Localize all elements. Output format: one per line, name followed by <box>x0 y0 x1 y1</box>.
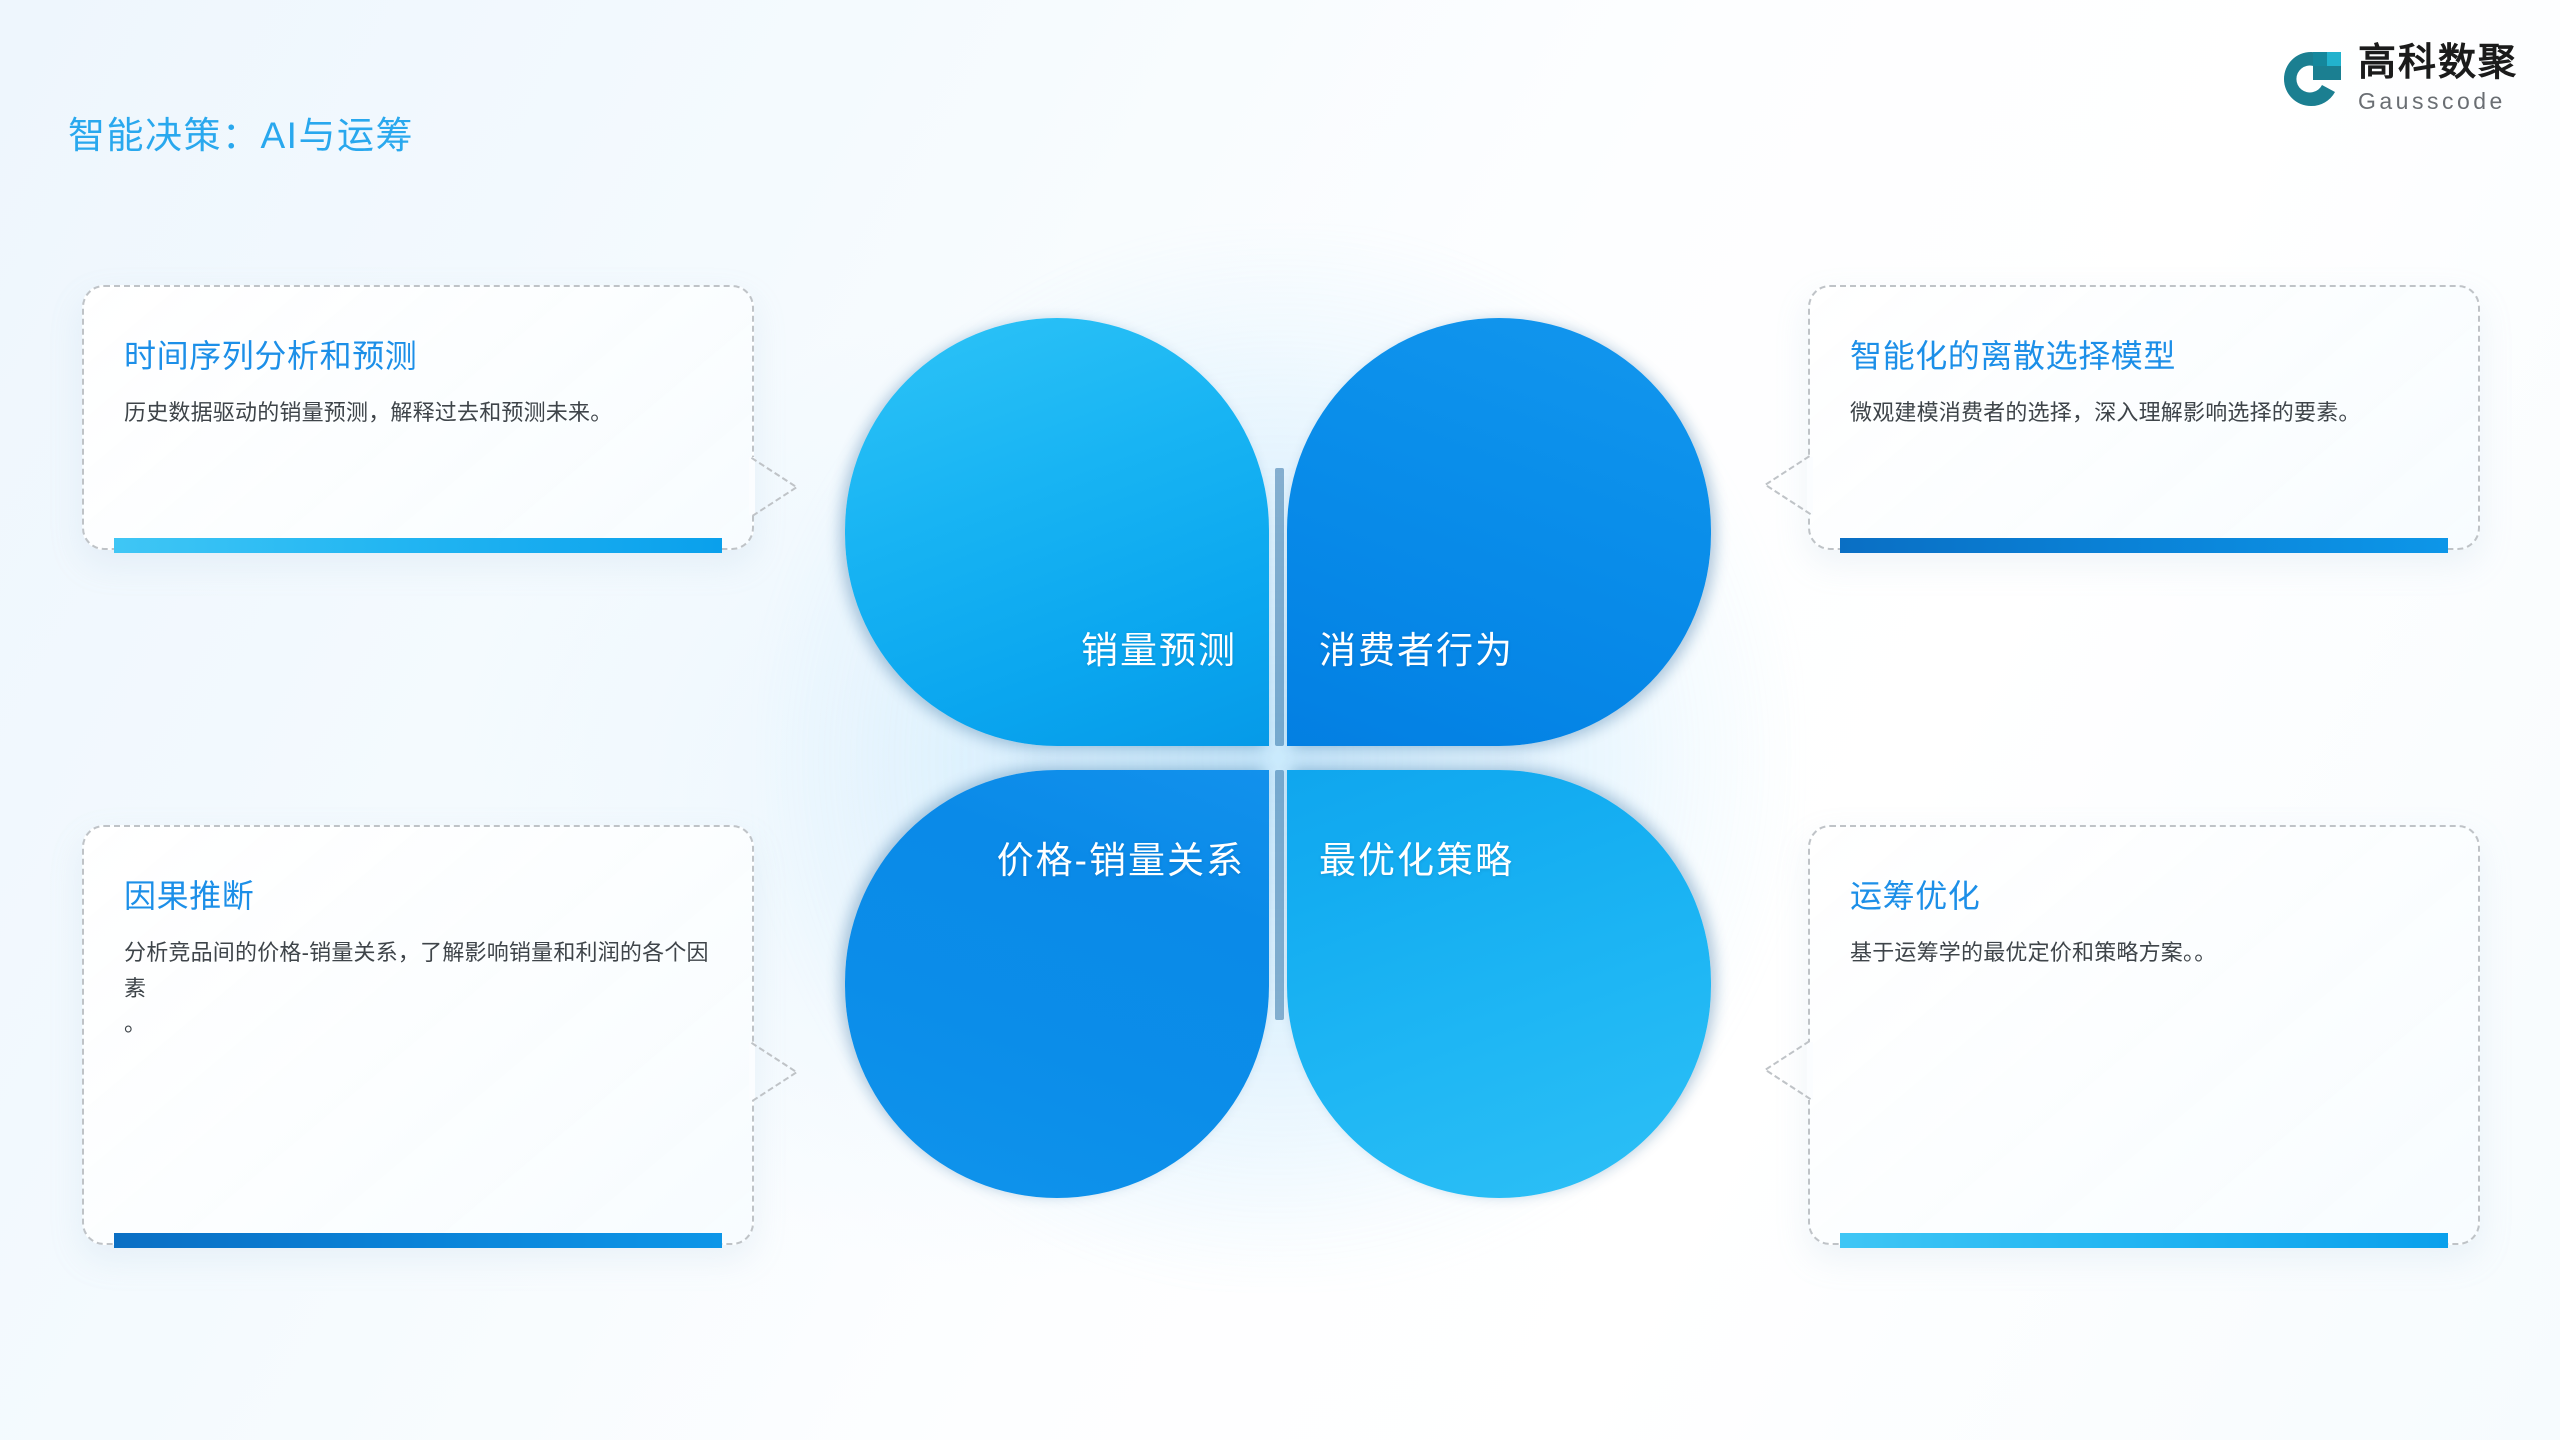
logo-name-en: Gausscode <box>2358 90 2518 113</box>
gausscode-logo-icon <box>2280 48 2342 110</box>
page-header: 智能决策：AI与运筹 高科数聚 Gausscode <box>0 0 2560 170</box>
petal-label: 消费者行为 <box>1319 620 1514 674</box>
card-accent-bar <box>1840 1233 2448 1248</box>
card-body: 历史数据驱动的销量预测，解释过去和预测未来。 <box>124 395 712 431</box>
card-body: 基于运筹学的最优定价和策略方案。。 <box>1850 935 2438 971</box>
card-discrete-choice[interactable]: 智能化的离散选择模型 微观建模消费者的选择，深入理解影响选择的要素。 <box>1808 285 2480 550</box>
card-title: 因果推断 <box>124 871 712 917</box>
card-body: 微观建模消费者的选择，深入理解影响选择的要素。 <box>1850 395 2438 431</box>
card-title: 时间序列分析和预测 <box>124 331 712 377</box>
seam-edge-top <box>1275 468 1284 746</box>
card-causal-inference[interactable]: 因果推断 分析竞品间的价格-销量关系，了解影响销量和利润的各个因素 。 <box>82 825 754 1245</box>
seam-edge-bottom <box>1275 770 1284 1020</box>
petal-sales-forecast[interactable]: 销量预测 <box>845 318 1269 746</box>
petal-label: 最优化策略 <box>1319 830 1514 884</box>
card-body: 分析竞品间的价格-销量关系，了解影响销量和利润的各个因素 。 <box>124 935 712 1042</box>
card-title: 运筹优化 <box>1850 871 2438 917</box>
card-operations-research[interactable]: 运筹优化 基于运筹学的最优定价和策略方案。。 <box>1808 825 2480 1245</box>
card-accent-bar <box>114 538 722 553</box>
brand-logo: 高科数聚 Gausscode <box>2280 44 2518 113</box>
petal-label: 销量预测 <box>1081 620 1237 674</box>
card-time-series[interactable]: 时间序列分析和预测 历史数据驱动的销量预测，解释过去和预测未来。 <box>82 285 754 550</box>
page-title: 智能决策：AI与运筹 <box>68 105 414 159</box>
petal-consumer-behavior[interactable]: 消费者行为 <box>1287 318 1711 746</box>
card-accent-bar <box>114 1233 722 1248</box>
petal-label: 价格-销量关系 <box>997 830 1245 884</box>
petal-price-volume[interactable]: 价格-销量关系 <box>845 770 1269 1198</box>
card-accent-bar <box>1840 538 2448 553</box>
card-title: 智能化的离散选择模型 <box>1850 331 2438 377</box>
petal-optimal-strategy[interactable]: 最优化策略 <box>1287 770 1711 1198</box>
quadrant-flower-diagram: 销量预测 消费者行为 价格-销量关系 最优化策略 <box>845 318 1711 1198</box>
logo-name-cn: 高科数聚 <box>2358 44 2518 82</box>
